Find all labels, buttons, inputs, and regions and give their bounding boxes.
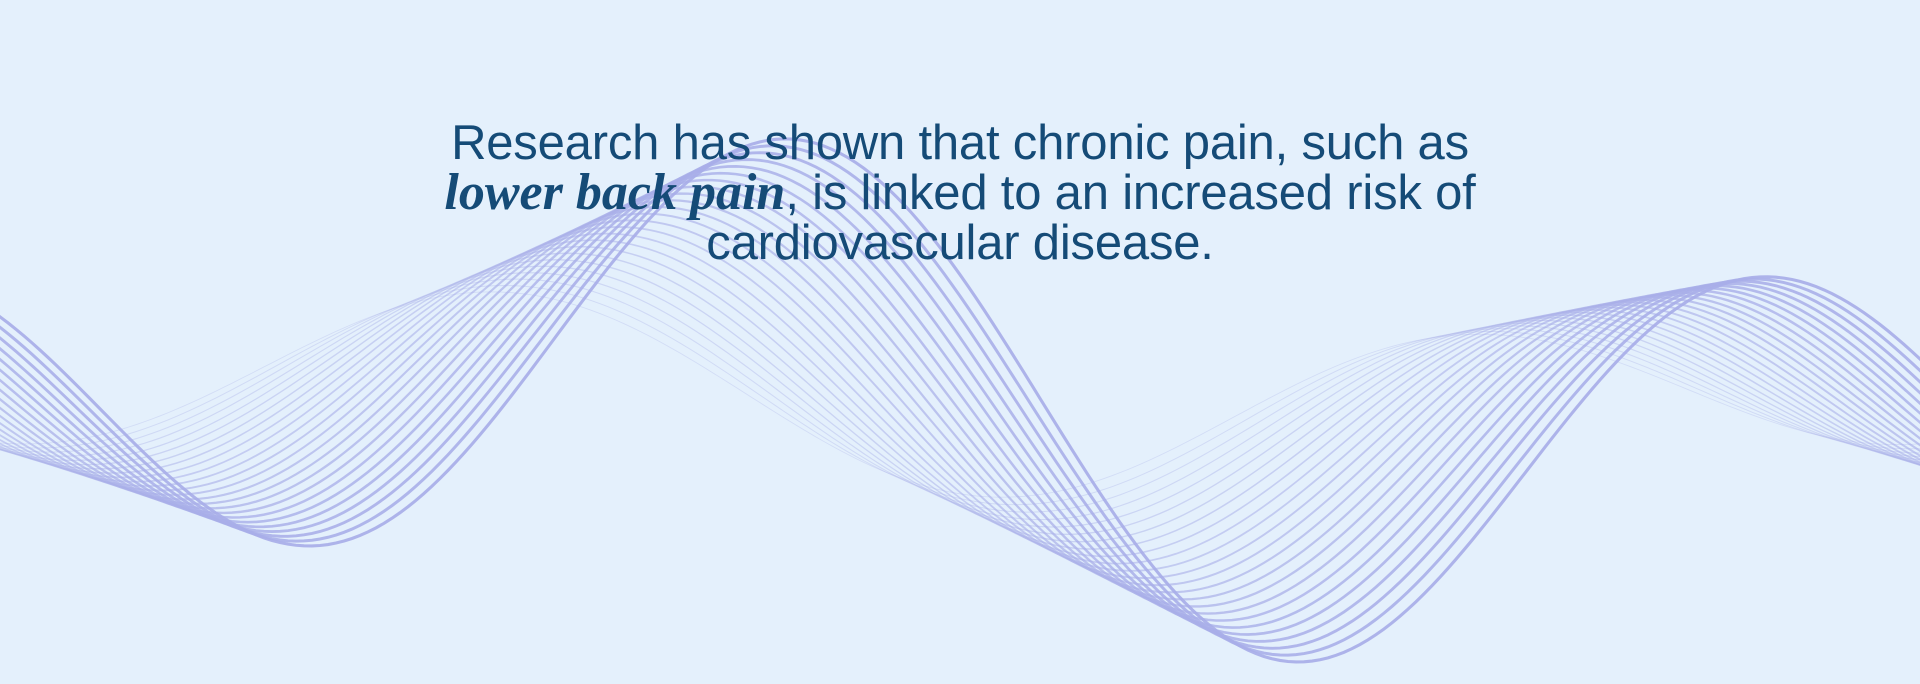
wave-line	[0, 279, 1920, 512]
banner-canvas: Research has shown that chronic pain, su…	[0, 0, 1920, 684]
wave-line	[0, 227, 1920, 571]
wave-line	[0, 292, 1920, 497]
headline-emphasis: lower back pain	[444, 164, 785, 221]
wave-line	[0, 253, 1920, 541]
wave-line	[0, 240, 1920, 556]
headline-segment-1: Research has shown that chronic pain, su…	[451, 116, 1482, 170]
wave-line	[0, 286, 1920, 505]
wave-line	[0, 234, 1920, 564]
wave-line	[0, 273, 1920, 520]
headline-segment-2: , is linked to an increased risk of card…	[706, 166, 1489, 270]
headline-container: Research has shown that chronic pain, su…	[0, 0, 1920, 268]
wave-line	[0, 220, 1920, 578]
page-title: Research has shown that chronic pain, su…	[395, 118, 1525, 268]
wave-line	[0, 247, 1920, 549]
wave-line	[0, 266, 1920, 527]
wave-line	[0, 260, 1920, 535]
